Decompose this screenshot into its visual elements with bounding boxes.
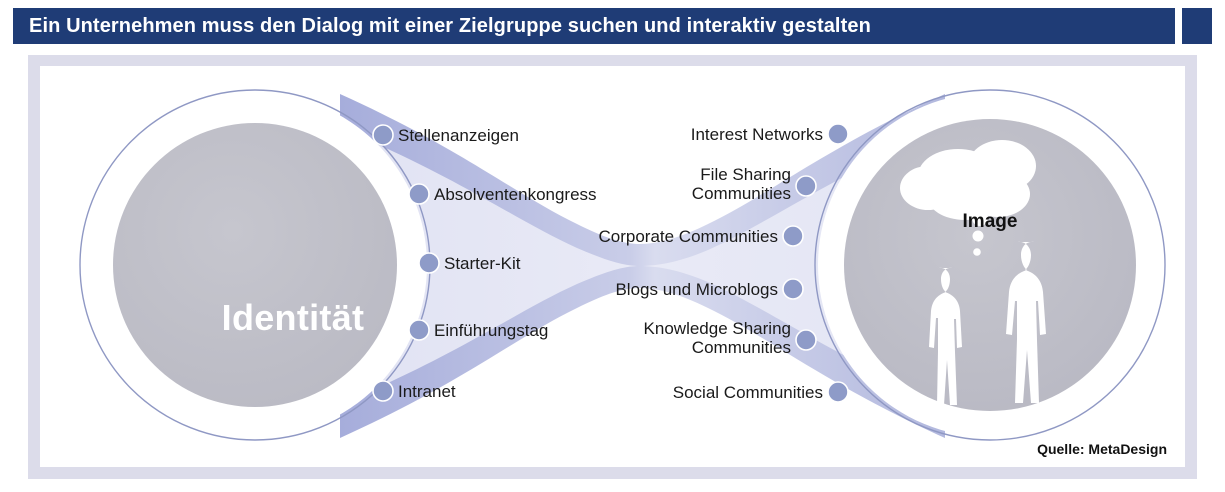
node-dot-stellenanzeigen[interactable] — [373, 125, 393, 145]
label-blogs-und-microblogs[interactable]: Blogs und Microblogs — [615, 280, 778, 299]
identity-label: Identität — [153, 297, 433, 339]
left-circle-disc — [113, 123, 397, 407]
diagram-area: Identität Image Stellenanzeigen Absolven… — [40, 66, 1185, 467]
image-label: Image — [920, 211, 1060, 233]
source-credit: Quelle: MetaDesign — [1037, 441, 1167, 457]
node-dot-social-communities[interactable] — [828, 382, 848, 402]
node-dot-intranet[interactable] — [373, 381, 393, 401]
label-absolventenkongress[interactable]: Absolventenkongress — [434, 185, 597, 204]
page-title: Ein Unternehmen muss den Dialog mit eine… — [29, 15, 871, 38]
node-dot-interest-networks[interactable] — [828, 124, 848, 144]
title-bar-accent-block — [1182, 8, 1212, 44]
label-corporate-communities[interactable]: Corporate Communities — [598, 227, 778, 246]
label-file-sharing-communities[interactable]: File SharingCommunities — [581, 165, 791, 203]
relationship-diagram — [40, 66, 1185, 467]
node-dot-blogs-und-microblogs[interactable] — [783, 279, 803, 299]
slide-title-bar: Ein Unternehmen muss den Dialog mit eine… — [13, 8, 1175, 44]
node-dot-knowledge-sharing[interactable] — [796, 330, 816, 350]
label-intranet[interactable]: Intranet — [398, 382, 456, 401]
label-interest-networks[interactable]: Interest Networks — [691, 125, 823, 144]
node-dot-file-sharing-communities[interactable] — [796, 176, 816, 196]
label-knowledge-sharing-communities[interactable]: Knowledge SharingCommunities — [561, 319, 791, 357]
node-dot-starter-kit[interactable] — [419, 253, 439, 273]
label-social-communities[interactable]: Social Communities — [673, 383, 823, 402]
slide-canvas: Ein Unternehmen muss den Dialog mit eine… — [0, 0, 1225, 492]
label-starter-kit[interactable]: Starter-Kit — [444, 254, 521, 273]
node-dot-corporate-communities[interactable] — [783, 226, 803, 246]
label-einfuehrungstag[interactable]: Einführungstag — [434, 321, 548, 340]
node-dot-absolventenkongress[interactable] — [409, 184, 429, 204]
label-stellenanzeigen[interactable]: Stellenanzeigen — [398, 126, 519, 145]
